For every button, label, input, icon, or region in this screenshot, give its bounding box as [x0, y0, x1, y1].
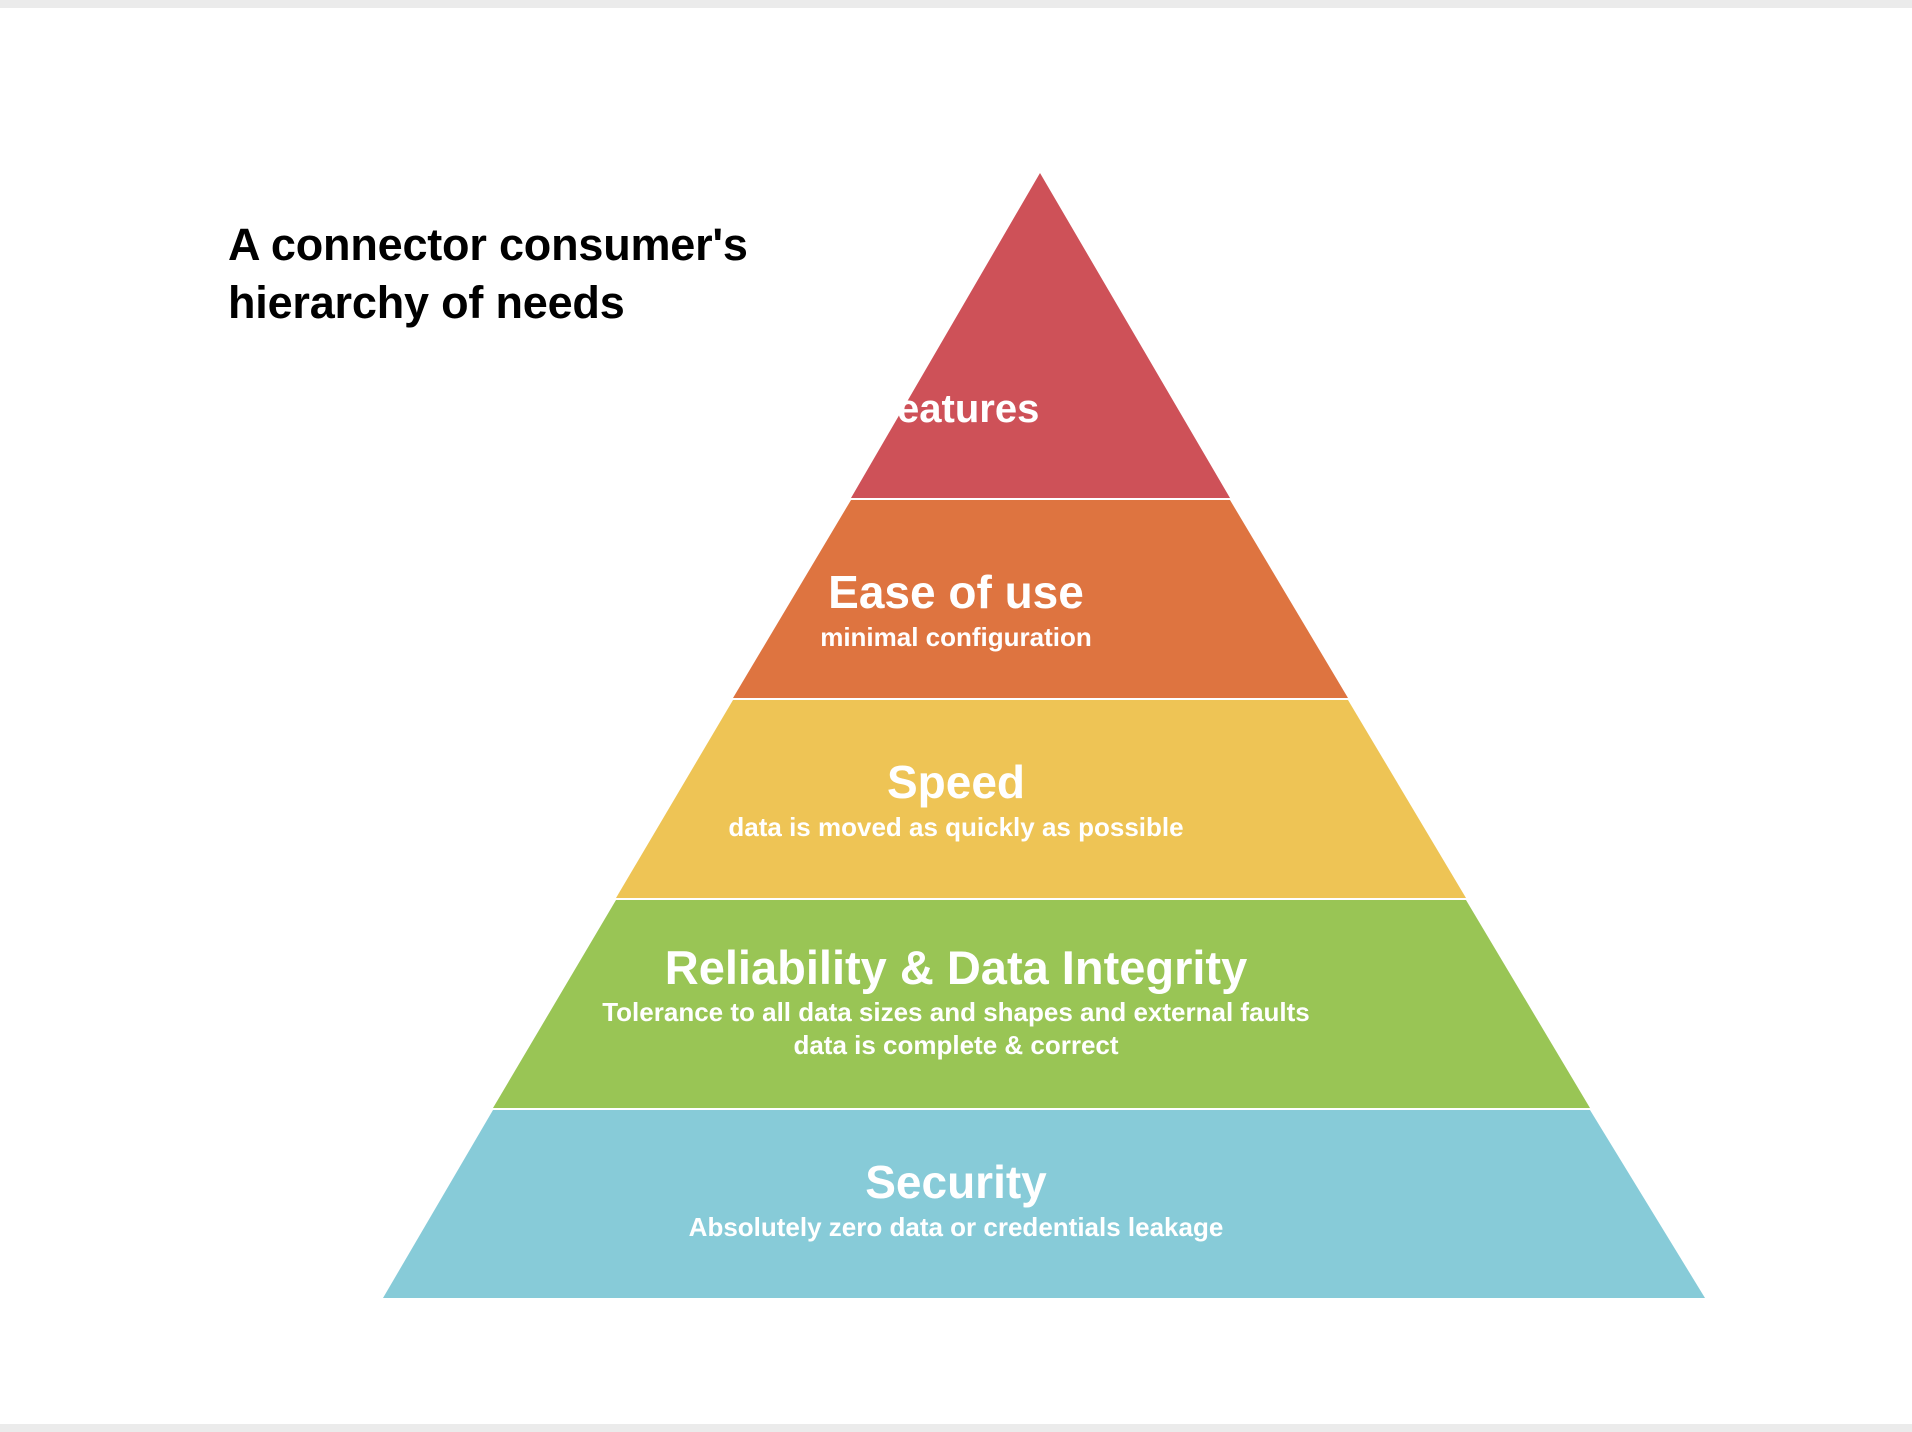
- pyramid-shapes: [0, 8, 1912, 1424]
- pyramid-tier-security: [383, 1110, 1705, 1298]
- slide-canvas: A connector consumer's hierarchy of need…: [0, 8, 1912, 1424]
- pyramid-diagram: Features Ease of use minimal configurati…: [0, 8, 1912, 1424]
- pyramid-tier-reliability: [493, 900, 1590, 1108]
- pyramid-tier-features: [851, 173, 1230, 498]
- pyramid-tier-speed: [616, 700, 1466, 898]
- pyramid-tier-ease-of-use: [733, 500, 1348, 698]
